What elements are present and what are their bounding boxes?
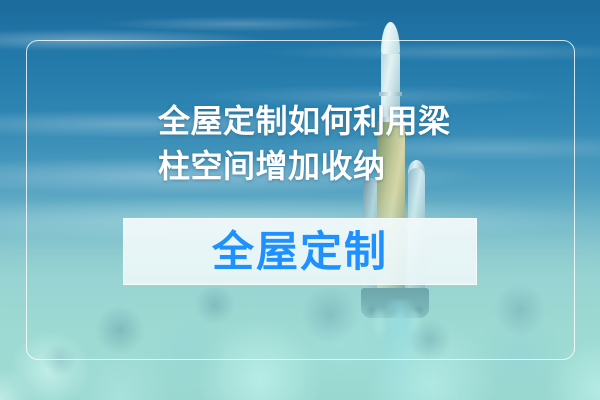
- banner-headline: 全屋定制如何利用梁 柱空间增加收纳: [158, 99, 488, 189]
- rocket-nose-cone-icon: [381, 22, 400, 56]
- banner-image: 全屋定制如何利用梁 柱空间增加收纳 全屋定制: [0, 0, 600, 400]
- keyword-bar[interactable]: 全屋定制: [123, 218, 477, 285]
- keyword-label: 全屋定制: [212, 231, 388, 273]
- rocket-ring-upper: [379, 92, 402, 96]
